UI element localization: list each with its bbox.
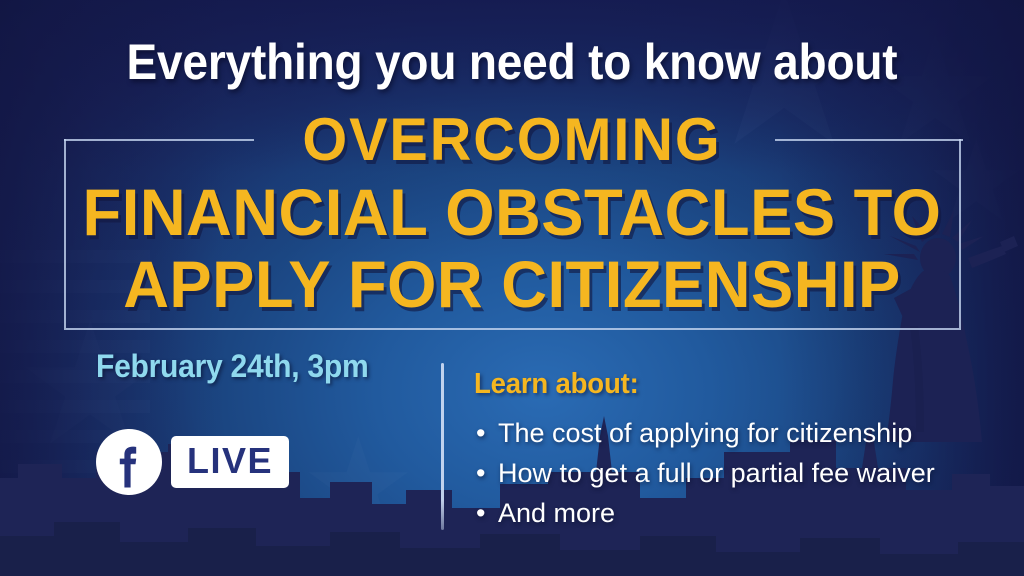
bullet-icon: • <box>476 493 485 533</box>
page-title: OVERCOMING FINANCIAL OBSTACLES TO APPLY … <box>20 104 1003 320</box>
bullet-icon: • <box>476 413 485 453</box>
bullet-icon: • <box>476 453 485 493</box>
facebook-live-badge[interactable]: LIVE <box>96 429 289 495</box>
facebook-icon[interactable] <box>96 429 162 495</box>
list-item-label: The cost of applying for citizenship <box>498 418 912 448</box>
learn-about-section: Learn about: • The cost of applying for … <box>474 368 1014 533</box>
list-item: • How to get a full or partial fee waive… <box>474 453 1014 493</box>
list-item: • And more <box>474 493 1014 533</box>
learn-about-heading: Learn about: <box>474 368 987 401</box>
page-headline: Everything you need to know about <box>41 33 983 91</box>
promo-poster: ★ ★ ★ ★ ★ <box>0 0 1024 576</box>
title-line-3: APPLY FOR CITIZENSHIP <box>20 248 1003 320</box>
learn-about-list: • The cost of applying for citizenship •… <box>474 413 1014 533</box>
event-date-time: February 24th, 3pm <box>96 348 368 385</box>
section-divider <box>441 363 444 530</box>
list-item-label: How to get a full or partial fee waiver <box>498 458 935 488</box>
title-line-2: FINANCIAL OBSTACLES TO <box>20 176 1003 248</box>
list-item: • The cost of applying for citizenship <box>474 413 1014 453</box>
title-line-1: OVERCOMING <box>20 104 1003 176</box>
live-label[interactable]: LIVE <box>171 436 289 488</box>
list-item-label: And more <box>498 498 615 528</box>
